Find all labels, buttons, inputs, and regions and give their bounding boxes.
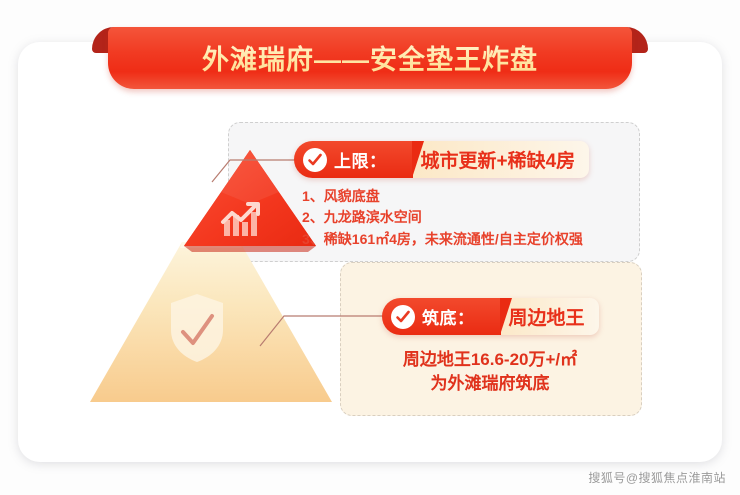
upper-badge-red-part: 上限： <box>294 141 413 178</box>
trending-up-chart-icon <box>220 202 264 238</box>
check-circle-icon <box>303 148 327 172</box>
caption-line: 周边地王16.6-20万+/㎡ <box>340 348 640 372</box>
upper-badge-label: 上限： <box>334 147 387 172</box>
lower-caption: 周边地王16.6-20万+/㎡ 为外滩瑞府筑底 <box>340 348 640 396</box>
lower-badge[interactable]: 筑底： 周边地王 <box>382 298 599 335</box>
lower-badge-label: 筑底： <box>422 304 475 329</box>
list-item: 2、九龙路滨水空间 <box>302 207 583 228</box>
watermark: 搜狐号@搜狐焦点淮南站 <box>588 469 726 486</box>
shield-check-icon <box>166 292 228 364</box>
caption-line: 为外滩瑞府筑底 <box>340 372 640 396</box>
check-circle-icon <box>391 305 415 329</box>
banner-ribbon: 外滩瑞府——安全垫王炸盘 <box>92 27 648 89</box>
upper-badge[interactable]: 上限： 城市更新+稀缺4房 <box>294 141 589 178</box>
lower-badge-value: 周边地王 <box>509 303 585 330</box>
list-item: 1、风貌底盘 <box>302 186 583 207</box>
lower-badge-red-part: 筑底： <box>382 298 501 335</box>
poster-canvas: 外滩瑞府——安全垫王炸盘 <box>0 0 740 495</box>
banner-body: 外滩瑞府——安全垫王炸盘 <box>108 27 632 89</box>
upper-bullet-list: 1、风貌底盘 2、九龙路滨水空间 3、稀缺161㎡4房，未来流通性/自主定价权强 <box>302 186 583 250</box>
upper-badge-value: 城市更新+稀缺4房 <box>421 146 576 173</box>
upper-badge-cream-part: 城市更新+稀缺4房 <box>399 141 590 178</box>
banner-title: 外滩瑞府——安全垫王炸盘 <box>202 38 538 79</box>
list-item: 3、稀缺161㎡4房，未来流通性/自主定价权强 <box>302 229 583 250</box>
